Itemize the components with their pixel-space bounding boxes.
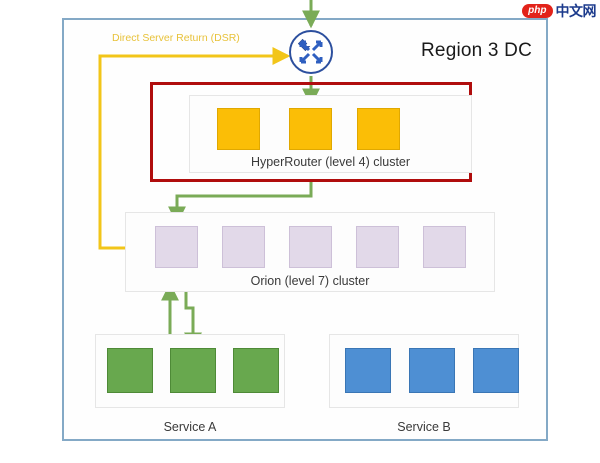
dsr-annotation-label: Direct Server Return (DSR) [112,32,240,44]
orion-node[interactable] [289,226,332,268]
watermark: php 中文网 [520,1,598,21]
orion-node[interactable] [356,226,399,268]
service-b-node[interactable] [409,348,455,393]
hyperrouter-node[interactable] [357,108,400,150]
service-b-node[interactable] [345,348,391,393]
orion-cluster-label: Orion (level 7) cluster [126,274,494,288]
diagram-canvas: Region 3 DC Direct Server Return (DS [0,0,600,463]
page-title: Region 3 DC [421,40,532,62]
hyperrouter-node[interactable] [289,108,332,150]
service-a-label: Service A [95,420,285,434]
service-b-node[interactable] [473,348,519,393]
hyperrouter-node[interactable] [217,108,260,150]
orion-node[interactable] [423,226,466,268]
service-b-label: Service B [329,420,519,434]
router-icon[interactable] [288,29,334,75]
hyperrouter-cluster-label: HyperRouter (level 4) cluster [190,155,471,169]
service-a-node[interactable] [107,348,153,393]
watermark-badge: php [522,4,552,18]
orion-node[interactable] [155,226,198,268]
orion-node[interactable] [222,226,265,268]
watermark-text: 中文网 [556,4,597,18]
service-a-node[interactable] [170,348,216,393]
service-a-node[interactable] [233,348,279,393]
